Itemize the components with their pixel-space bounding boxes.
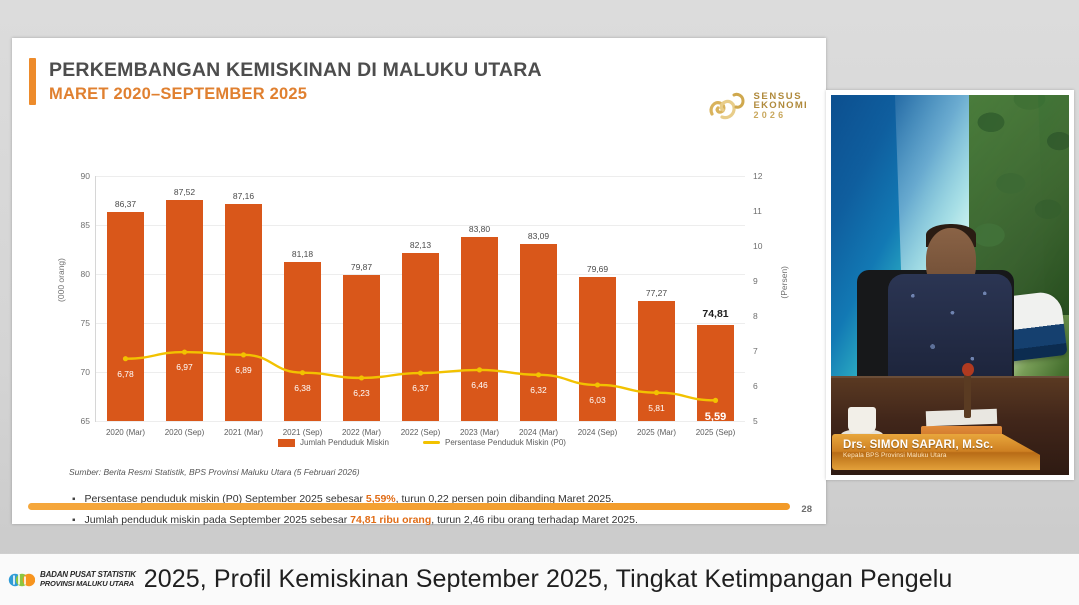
- page-subtitle: MARET 2020–SEPTEMBER 2025: [49, 83, 542, 105]
- slide-title-block: PERKEMBANGAN KEMISKINAN DI MALUKU UTARA …: [29, 58, 542, 105]
- line-value-label: 6,97: [153, 362, 217, 372]
- line-value-label: 6,23: [330, 388, 394, 398]
- y-axis-left-tick: 75: [81, 318, 96, 328]
- y-axis-left-tick: 85: [81, 220, 96, 230]
- speaker-name: Drs. SIMON SAPARI, M.Sc.: [843, 439, 1040, 451]
- line-value-label: 5,81: [625, 403, 689, 413]
- speaker-nameplate: Drs. SIMON SAPARI, M.Sc. Kepala BPS Prov…: [832, 434, 1040, 470]
- chart-gridline: [96, 421, 745, 422]
- line-value-label: 5,59: [684, 411, 748, 423]
- list-item: ▪ Jumlah penduduk miskin pada September …: [72, 511, 792, 530]
- presentation-slide: PERKEMBANGAN KEMISKINAN DI MALUKU UTARA …: [12, 38, 826, 524]
- y-axis-right-tick: 7: [745, 346, 758, 356]
- x-axis-label: 2024 (Mar): [507, 428, 571, 437]
- y-axis-left-tick: 80: [81, 269, 96, 279]
- screen: PERKEMBANGAN KEMISKINAN DI MALUKU UTARA …: [0, 0, 1079, 605]
- line-value-label: 6,89: [212, 365, 276, 375]
- line-value-label: 6,78: [94, 369, 158, 379]
- x-axis-label: 2022 (Sep): [389, 428, 453, 437]
- bullet-dot-icon: ▪: [72, 511, 76, 530]
- legend-item-line: Persentase Penduduk Miskin (P0): [423, 438, 566, 447]
- coffee-cup: [848, 407, 877, 434]
- y-axis-right-title: (Persen): [779, 266, 789, 299]
- x-axis-label: 2021 (Sep): [271, 428, 335, 437]
- x-axis-label: 2025 (Mar): [625, 428, 689, 437]
- bps-logo-icon: [8, 569, 35, 591]
- y-axis-right-tick: 6: [745, 381, 758, 391]
- y-axis-left-tick: 65: [81, 416, 96, 426]
- ticker-headline: 2025, Profil Kemiskinan September 2025, …: [144, 565, 953, 594]
- line-value-label: 6,03: [566, 395, 630, 405]
- page-title: PERKEMBANGAN KEMISKINAN DI MALUKU UTARA: [49, 58, 542, 82]
- line-value-label: 6,37: [389, 383, 453, 393]
- legend-bar-swatch-icon: [278, 439, 295, 447]
- x-axis-label: 2022 (Mar): [330, 428, 394, 437]
- speaker-role: Kepala BPS Provinsi Maluku Utara: [843, 452, 1040, 459]
- speaker-video-panel[interactable]: [826, 90, 1074, 480]
- bullet-2-post: , turun 2,46 ribu orang terhadap Maret 2…: [431, 514, 638, 526]
- line-value-label: 6,38: [271, 383, 335, 393]
- bullet-2-highlight: 74,81 ribu orang: [350, 514, 431, 526]
- sensus-ekonomi-logo: SENSUS EKONOMI 2026: [706, 88, 809, 124]
- chart-plot-area: 9085807570651211109876586,372020 (Mar)87…: [95, 176, 745, 422]
- line-value-label: 6,46: [448, 380, 512, 390]
- bottom-ticker-bar: BADAN PUSAT STATISTIK PROVINSI MALUKU UT…: [0, 553, 1079, 605]
- video-feed: [831, 95, 1069, 475]
- title-accent-bar: [29, 58, 36, 105]
- slide-page-number: 28: [801, 504, 812, 515]
- desk-edge: [831, 376, 1069, 378]
- x-axis-label: 2021 (Mar): [212, 428, 276, 437]
- sensus-ekonomi-mark-icon: [706, 88, 748, 124]
- y-axis-right-tick: 10: [745, 241, 762, 251]
- x-axis-label: 2020 (Sep): [153, 428, 217, 437]
- legend-label-line: Persentase Penduduk Miskin (P0): [445, 438, 566, 447]
- y-axis-left-tick: 90: [81, 171, 96, 181]
- bullet-list: ▪ Persentase penduduk miskin (P0) Septem…: [72, 490, 792, 532]
- x-axis-label: 2024 (Sep): [566, 428, 630, 437]
- legend-label-bars: Jumlah Penduduk Miskin: [300, 438, 389, 447]
- bps-badge: BADAN PUSAT STATISTIK PROVINSI MALUKU UT…: [0, 569, 144, 591]
- chart-legend: Jumlah Penduduk Miskin Persentase Pendud…: [52, 438, 792, 447]
- legend-line-swatch-icon: [423, 441, 440, 444]
- x-axis-label: 2023 (Mar): [448, 428, 512, 437]
- microphone-stand: [964, 372, 971, 418]
- paper-document: [926, 409, 998, 427]
- x-axis-label: 2025 (Sep): [684, 428, 748, 437]
- line-value-label: 6,32: [507, 385, 571, 395]
- legend-item-bars: Jumlah Penduduk Miskin: [278, 438, 389, 447]
- logo-line-3: 2026: [754, 111, 809, 120]
- y-axis-left-title: (000 orang): [56, 258, 66, 302]
- chart-source-note: Sumber: Berita Resmi Statistik, BPS Prov…: [69, 467, 360, 477]
- bps-badge-line-2: PROVINSI MALUKU UTARA: [40, 580, 136, 588]
- y-axis-right-tick: 12: [745, 171, 762, 181]
- slide-footer-bar: [28, 503, 790, 510]
- microphone-head-icon: [962, 363, 974, 376]
- bullet-2-pre: Jumlah penduduk miskin pada September 20…: [85, 514, 351, 526]
- y-axis-right-tick: 9: [745, 276, 758, 286]
- poverty-chart: (000 orang) (Persen) 9085807570651211109…: [52, 166, 792, 448]
- y-axis-right-tick: 11: [745, 206, 762, 216]
- x-axis-label: 2020 (Mar): [94, 428, 158, 437]
